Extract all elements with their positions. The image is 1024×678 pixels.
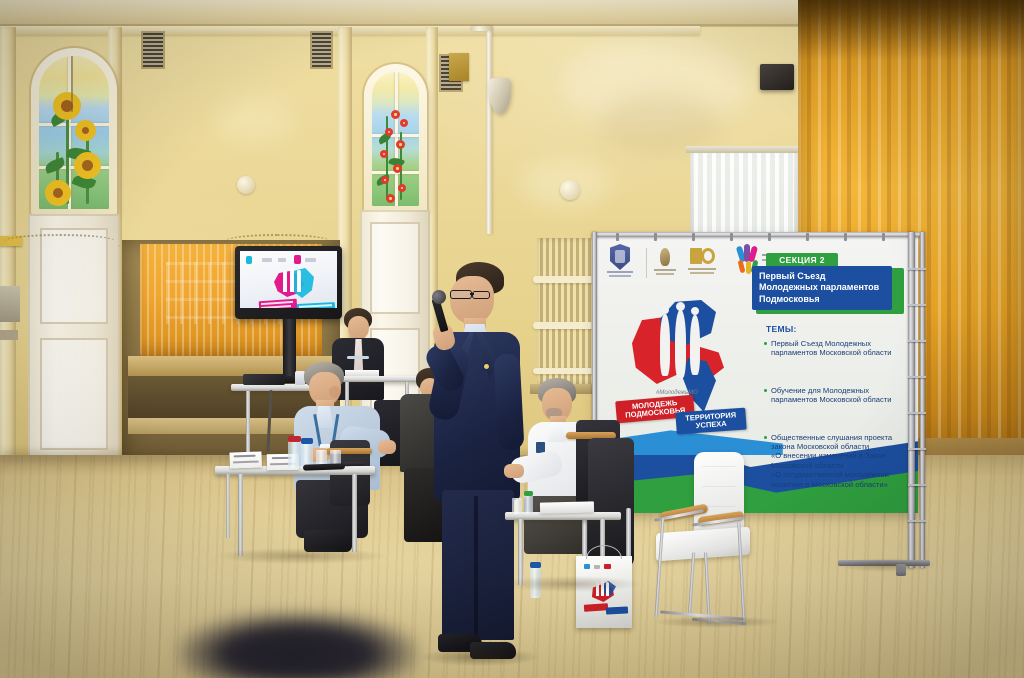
speaker-floor-shadow [420,648,540,666]
topic-line: парламентов Московской области [771,348,914,357]
topic-line: парламентов Московской области [771,395,914,404]
table-leg [238,474,243,556]
shelf-item [0,330,18,340]
table-leg [226,474,230,538]
bottle-cap [301,438,313,444]
topic-line: Московской области [771,461,916,470]
topic-line: политике в Московской области» [771,480,916,489]
truss-rung [908,304,926,306]
glasses-icon [472,291,490,299]
table-leg [352,474,357,552]
truss-rung [908,484,926,486]
drinking-glass [512,498,522,514]
display-screen [240,251,337,308]
banner-truss-top [592,232,922,237]
gift-bag [576,556,632,628]
ceiling-pipe [486,26,492,234]
banner-truss-right-rail [920,232,925,568]
hand [504,464,524,478]
bottle-cap [288,436,301,442]
truss-rung [908,376,926,378]
hall-door-left[interactable] [28,214,120,468]
banner-topic-2: Обучение для Молодежных парламентов Моск… [764,386,914,405]
wall-vent-icon [143,33,163,67]
logo-tag-blue: ТЕРРИТОРИЯ УСПЕХА [675,408,746,435]
mo-monogram-logo-icon [688,248,718,278]
topic-line: «О внесении изменений в Закон [771,451,916,460]
slide-mini-icon [246,256,252,264]
banner-topic-3: Общественные слушания проекта закона Мос… [764,433,916,489]
topic-line: Обучение для Молодежных [771,386,869,395]
slide-logo-figure [290,268,294,292]
logo-divider [646,248,647,278]
chair-leg [626,508,631,562]
glasses-icon [450,290,472,299]
stage-equipment-box [760,64,794,90]
papers [540,501,594,513]
bottle-cap [530,562,541,568]
slide-logo-figure [297,270,301,292]
truss-rung [908,520,926,522]
truss-rung [908,340,926,342]
slide-mini-icon [294,255,301,264]
banner-truss-right [908,232,915,568]
curtain-rail [686,146,804,153]
truss-rung [908,268,926,270]
glasses-bridge [470,293,474,295]
red-flower-window-mural [364,64,427,212]
banner-title: Первый Съезд Молодежных парламентов Подм… [752,266,892,310]
wall-knob [560,180,580,200]
microphone-handle [344,462,364,467]
topic-line: закона Московской области [771,442,916,451]
foreground-chair-blur [178,612,418,678]
slide-mini-text [262,258,272,262]
brass-plaque [449,53,469,81]
lapel-pin [484,364,489,369]
chair-leg [655,518,665,618]
face-shadow [329,386,341,398]
table-floor-shadow [216,548,386,564]
conference-hall-photo: СЕКЦИЯ 2 Первый Съезд Молодежных парламе… [0,0,1024,678]
slide-mini-text [278,258,286,262]
water-bottle [524,494,533,514]
truss-floor-shadow [836,558,936,572]
chair-floor-shadow [652,616,782,628]
wall-pilaster [0,27,16,467]
trousers [442,490,514,640]
tag-blue-line2: УСПЕХА [696,419,727,430]
water-bottle [288,440,301,468]
event-logo: #МолодежьМО МОЛОДЕЖЬ ПОДМОСКОВЬЯ ТЕРРИТО… [628,298,744,438]
chair-leg [688,552,696,618]
ministry-logo-icon [654,248,676,278]
name-card [229,451,262,468]
topic-line: «О государственной молодежной [771,470,916,479]
string-lights [5,234,115,248]
banner-topics-heading: ТЕМЫ: [766,324,797,334]
curtain-top-shadow [798,0,1024,60]
banner-topic-1: Первый Съезд Молодежных парламентов Моск… [764,339,914,358]
slide-logo-figure [283,270,287,292]
bag-tag-blue [606,606,628,614]
bag-logo-mark [594,565,600,569]
government-crest-icon [606,244,634,280]
equipment-table-leg [246,391,250,453]
banner-section-tag: СЕКЦИЯ 2 [766,253,838,267]
topic-line: Общественные слушания проекта [771,433,892,442]
ceiling-pipe-elbow [470,26,492,31]
projector [243,374,285,385]
truss-rung [908,448,926,450]
wall-vent-icon [312,33,331,67]
shelf-item [0,286,20,322]
trouser-crease [474,496,478,636]
bag-logo-mark [604,564,611,569]
topic-line: Первый Съезд Молодежных [771,339,871,348]
wall-stain [215,95,295,145]
hand [378,440,396,454]
truss-rung [908,412,926,414]
bag-logo-mark [584,564,590,569]
lanyard [347,356,369,359]
slide-mini-text [305,258,316,262]
empty-white-chair[interactable] [646,452,786,632]
bottle-cap [524,491,533,496]
bag-tag-red [584,603,608,612]
stage-window-sheer [694,152,794,238]
sunflower-window-mural [31,48,117,215]
wall-knob [237,176,255,194]
table-floor-shadow [500,576,640,592]
